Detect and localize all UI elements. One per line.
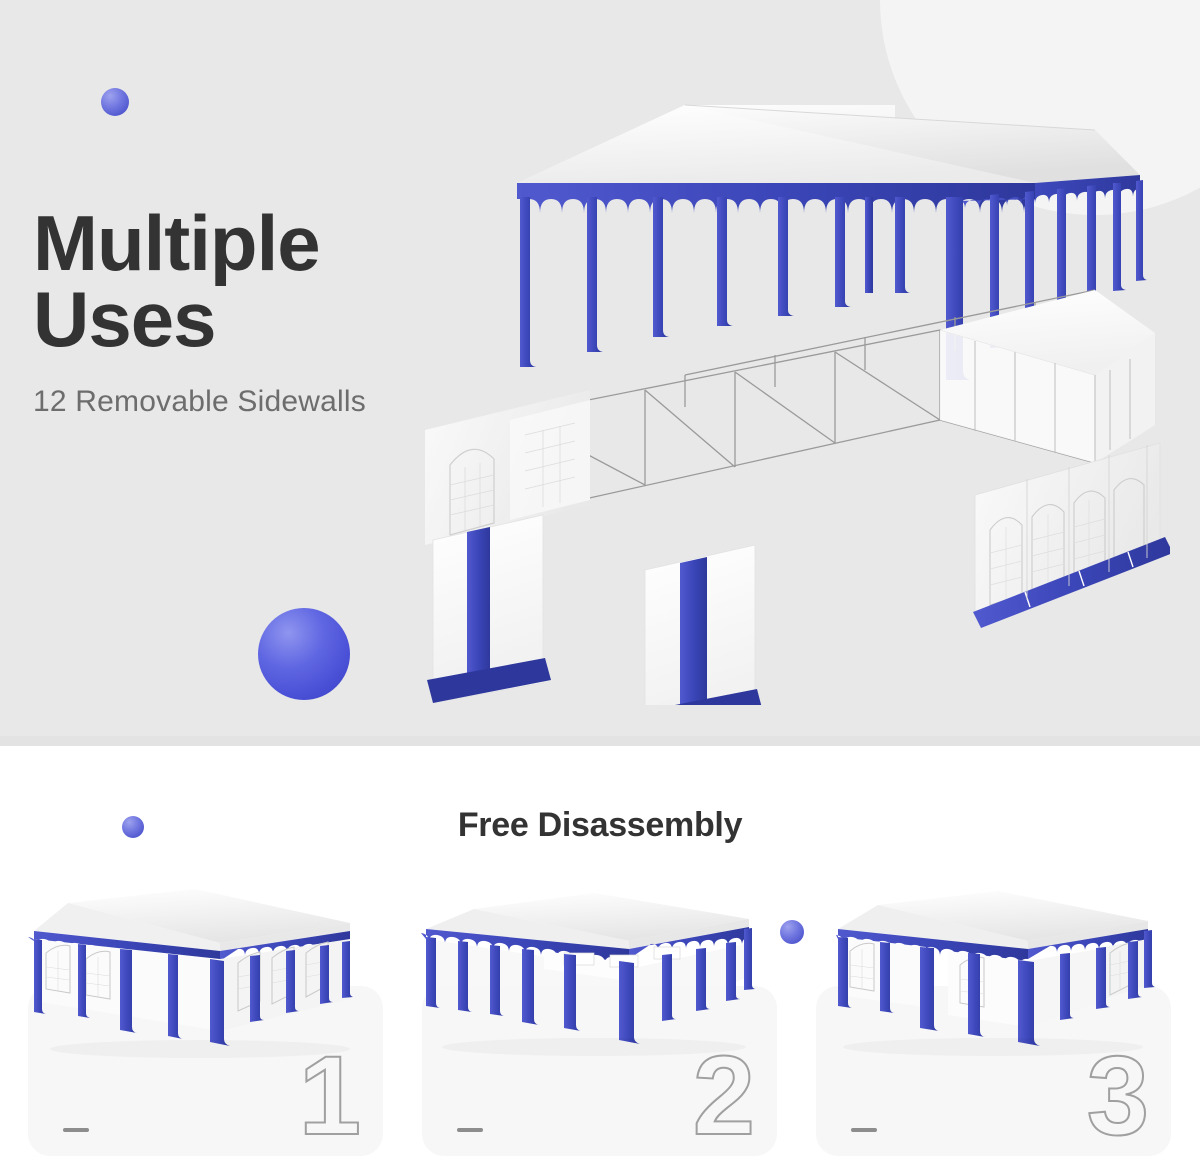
step-number-3: 3 (1087, 1040, 1149, 1152)
detached-sidewall-panel-left (427, 515, 551, 703)
card-dash-3 (851, 1128, 877, 1132)
sphere-decoration-section (122, 816, 144, 838)
back-wall-panel (425, 390, 590, 545)
section-title: Free Disassembly (0, 806, 1200, 845)
card-dash-2 (457, 1128, 483, 1132)
sphere-decoration-between-cards (780, 920, 804, 944)
sphere-decoration-large (258, 608, 350, 700)
section-divider-band (0, 736, 1200, 746)
party-tent-exploded-illustration (395, 75, 1170, 705)
hero-subheadline: 12 Removable Sidewalls (33, 385, 366, 419)
headline-line-2: Uses (33, 281, 320, 357)
step-card-3: 3 (816, 986, 1171, 1156)
step-card-2: 2 (422, 986, 777, 1156)
card-dash-1 (63, 1128, 89, 1132)
step-number-1: 1 (299, 1040, 361, 1152)
detached-sidewall-panel-center (639, 545, 763, 705)
disassembly-section: Free Disassembly (0, 746, 1200, 1159)
window-sidewall-panel-row (973, 443, 1170, 628)
hero-section: Multiple Uses 12 Removable Sidewalls (0, 0, 1200, 746)
step-cards-container: 1 (0, 881, 1200, 1156)
headline-line-1: Multiple (33, 199, 320, 287)
step-card-1: 1 (28, 986, 383, 1156)
canopy-roof (517, 105, 1140, 192)
step-number-2: 2 (693, 1040, 755, 1152)
sphere-decoration-top (101, 88, 129, 116)
hero-headline: Multiple Uses (33, 205, 320, 358)
canopy-legs (520, 197, 970, 380)
